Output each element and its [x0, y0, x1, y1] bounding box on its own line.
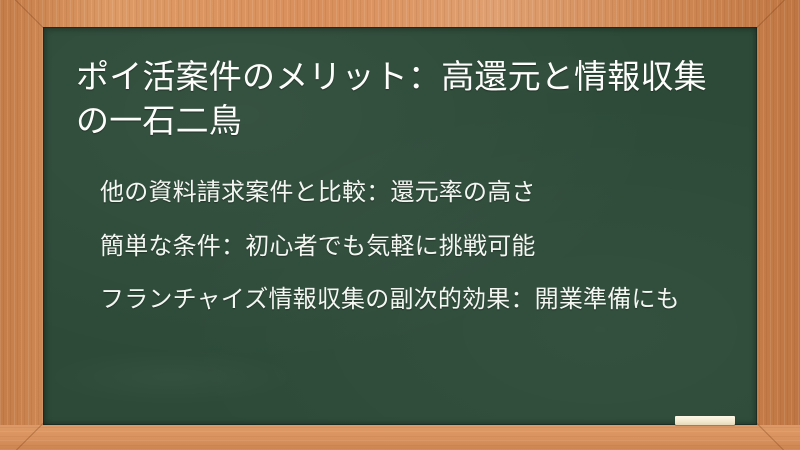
chalkboard-slide: ポイ活案件のメリット：高還元と情報収集の一石二鳥 他の資料請求案件と比較：還元率…	[0, 0, 800, 450]
list-item: フランチャイズ情報収集の副次的効果：開業準備にも	[100, 284, 740, 316]
slide-title: ポイ活案件のメリット：高還元と情報収集の一石二鳥	[76, 55, 736, 143]
frame-rail-bottom-ledge	[0, 425, 800, 450]
chalkboard-surface: ポイ活案件のメリット：高還元と情報収集の一石二鳥 他の資料請求案件と比較：還元率…	[43, 27, 757, 425]
bullet-list: 他の資料請求案件と比較：還元率の高さ 簡単な条件：初心者でも気軽に挑戦可能 フラ…	[100, 177, 740, 316]
frame-rail-top	[0, 0, 800, 27]
chalk-stick-icon	[675, 416, 735, 425]
list-item: 他の資料請求案件と比較：還元率の高さ	[100, 177, 740, 209]
list-item: 簡単な条件：初心者でも気軽に挑戦可能	[100, 231, 740, 263]
